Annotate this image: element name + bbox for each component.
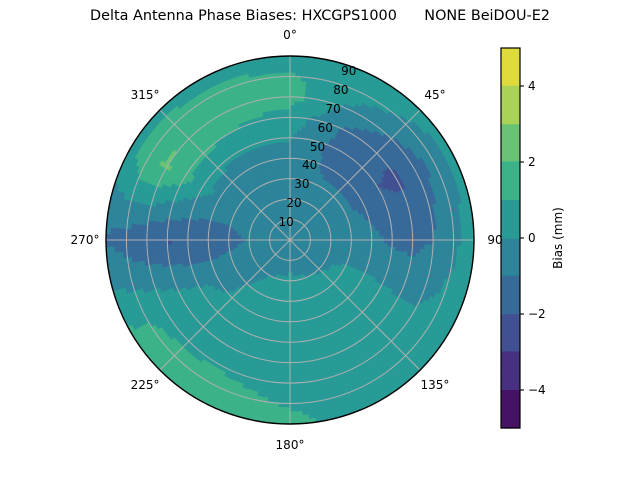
radial-tick-label-40: 40 bbox=[302, 158, 317, 172]
colorbar-tick-label-4: −4 bbox=[528, 383, 546, 397]
angular-tick-label-270: 270° bbox=[71, 233, 100, 247]
radial-tick-label-70: 70 bbox=[325, 102, 340, 116]
radial-tick-label-10: 10 bbox=[279, 215, 294, 229]
radial-tick-label-20: 20 bbox=[286, 196, 301, 210]
radial-tick-label-60: 60 bbox=[318, 121, 333, 135]
radial-tick-label-30: 30 bbox=[294, 177, 309, 191]
angular-tick-label-45: 45° bbox=[424, 88, 445, 102]
colorbar-tick-label-3: −2 bbox=[528, 307, 546, 321]
radial-tick-label-80: 80 bbox=[333, 83, 348, 97]
colorbar-tick-label-1: 2 bbox=[528, 155, 536, 169]
angular-tick-label-135: 135° bbox=[421, 378, 450, 392]
colorbar-axis-label: Bias (mm) bbox=[551, 207, 565, 269]
angular-tick-label-225: 225° bbox=[131, 378, 160, 392]
angular-tick-label-180: 180° bbox=[276, 438, 305, 452]
radial-tick-label-90: 90 bbox=[341, 64, 356, 78]
angular-tick-label-0: 0° bbox=[283, 28, 297, 42]
figure-canvas: Delta Antenna Phase Biases: HXCGPS1000 N… bbox=[0, 0, 640, 480]
angular-tick-label-315: 315° bbox=[131, 88, 160, 102]
colorbar-tick-label-0: 4 bbox=[528, 79, 536, 93]
angular-tick-label-90: 90 bbox=[487, 233, 502, 247]
colorbar-tick-label-2: 0 bbox=[528, 231, 536, 245]
radial-tick-label-50: 50 bbox=[310, 140, 325, 154]
